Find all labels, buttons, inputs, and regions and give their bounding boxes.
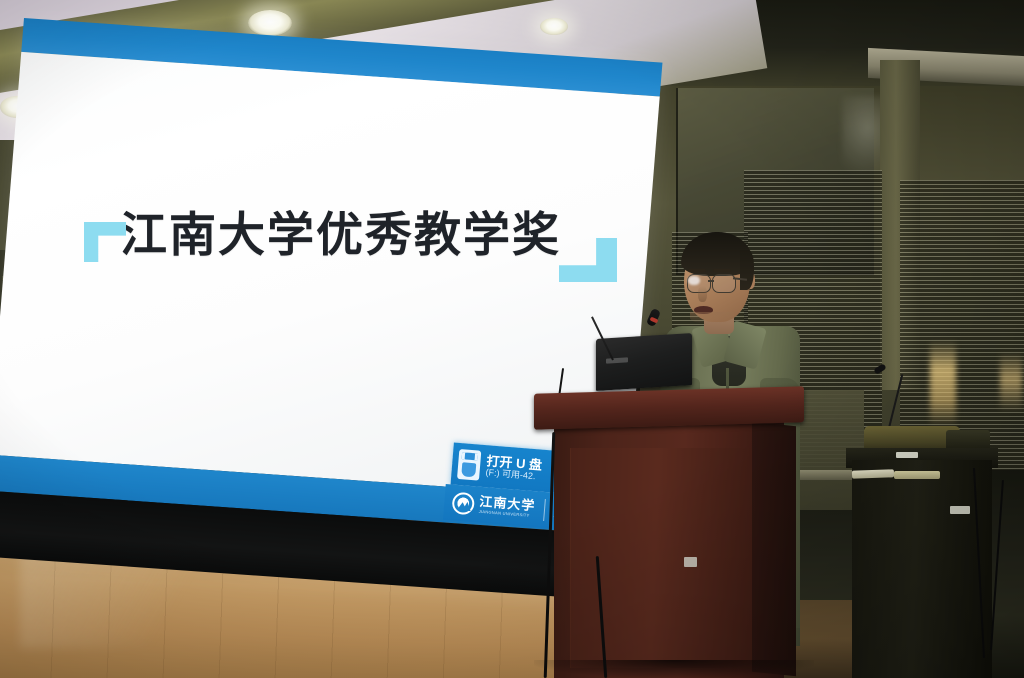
podium-floor-shadow (534, 660, 814, 678)
equipment-label-sticker (950, 506, 970, 514)
corner-bracket-bottom-right-icon (559, 238, 617, 282)
equipment-cabinet-body (852, 460, 992, 678)
speaker-hair-side (740, 250, 754, 290)
paper-sheet (894, 471, 940, 479)
slide-title-block: 江南大学优秀教学奖 (84, 212, 617, 282)
speaker-chin (690, 312, 734, 324)
equipment-cable (990, 480, 1004, 650)
av-equipment-cabinet (846, 424, 1024, 678)
podium-side-panel (752, 422, 796, 677)
glasses-glare (688, 276, 700, 285)
slide-title: 江南大学优秀教学奖 (120, 212, 561, 259)
speaker-eyebrow-left (688, 269, 706, 272)
podium-top-surface (534, 386, 804, 430)
university-name-block: 江南大学 JIANGNAN UNIVERSITY (478, 496, 535, 518)
usb-notification-subtitle: (F:) 可用-42. (485, 468, 541, 482)
speaker-nose (698, 286, 707, 302)
podium-lectern (534, 390, 804, 678)
usb-drive-icon (457, 449, 481, 481)
university-emblem-icon (451, 492, 475, 516)
equipment-label-sticker (896, 452, 918, 458)
speaker-eyebrow-right (713, 269, 731, 272)
wall-lamp-glow (1000, 352, 1022, 412)
laptop-computer[interactable] (596, 336, 692, 394)
lecture-hall-photo: 江南大学优秀教学奖 打开 U 盘 (F:) 可用-42. 江南大学 JIANGN… (0, 0, 1024, 678)
glasses-bridge-icon (708, 280, 714, 282)
wall-lamp-glow (930, 340, 956, 426)
podium-label-sticker (684, 557, 697, 567)
paper-sheet (852, 469, 894, 478)
